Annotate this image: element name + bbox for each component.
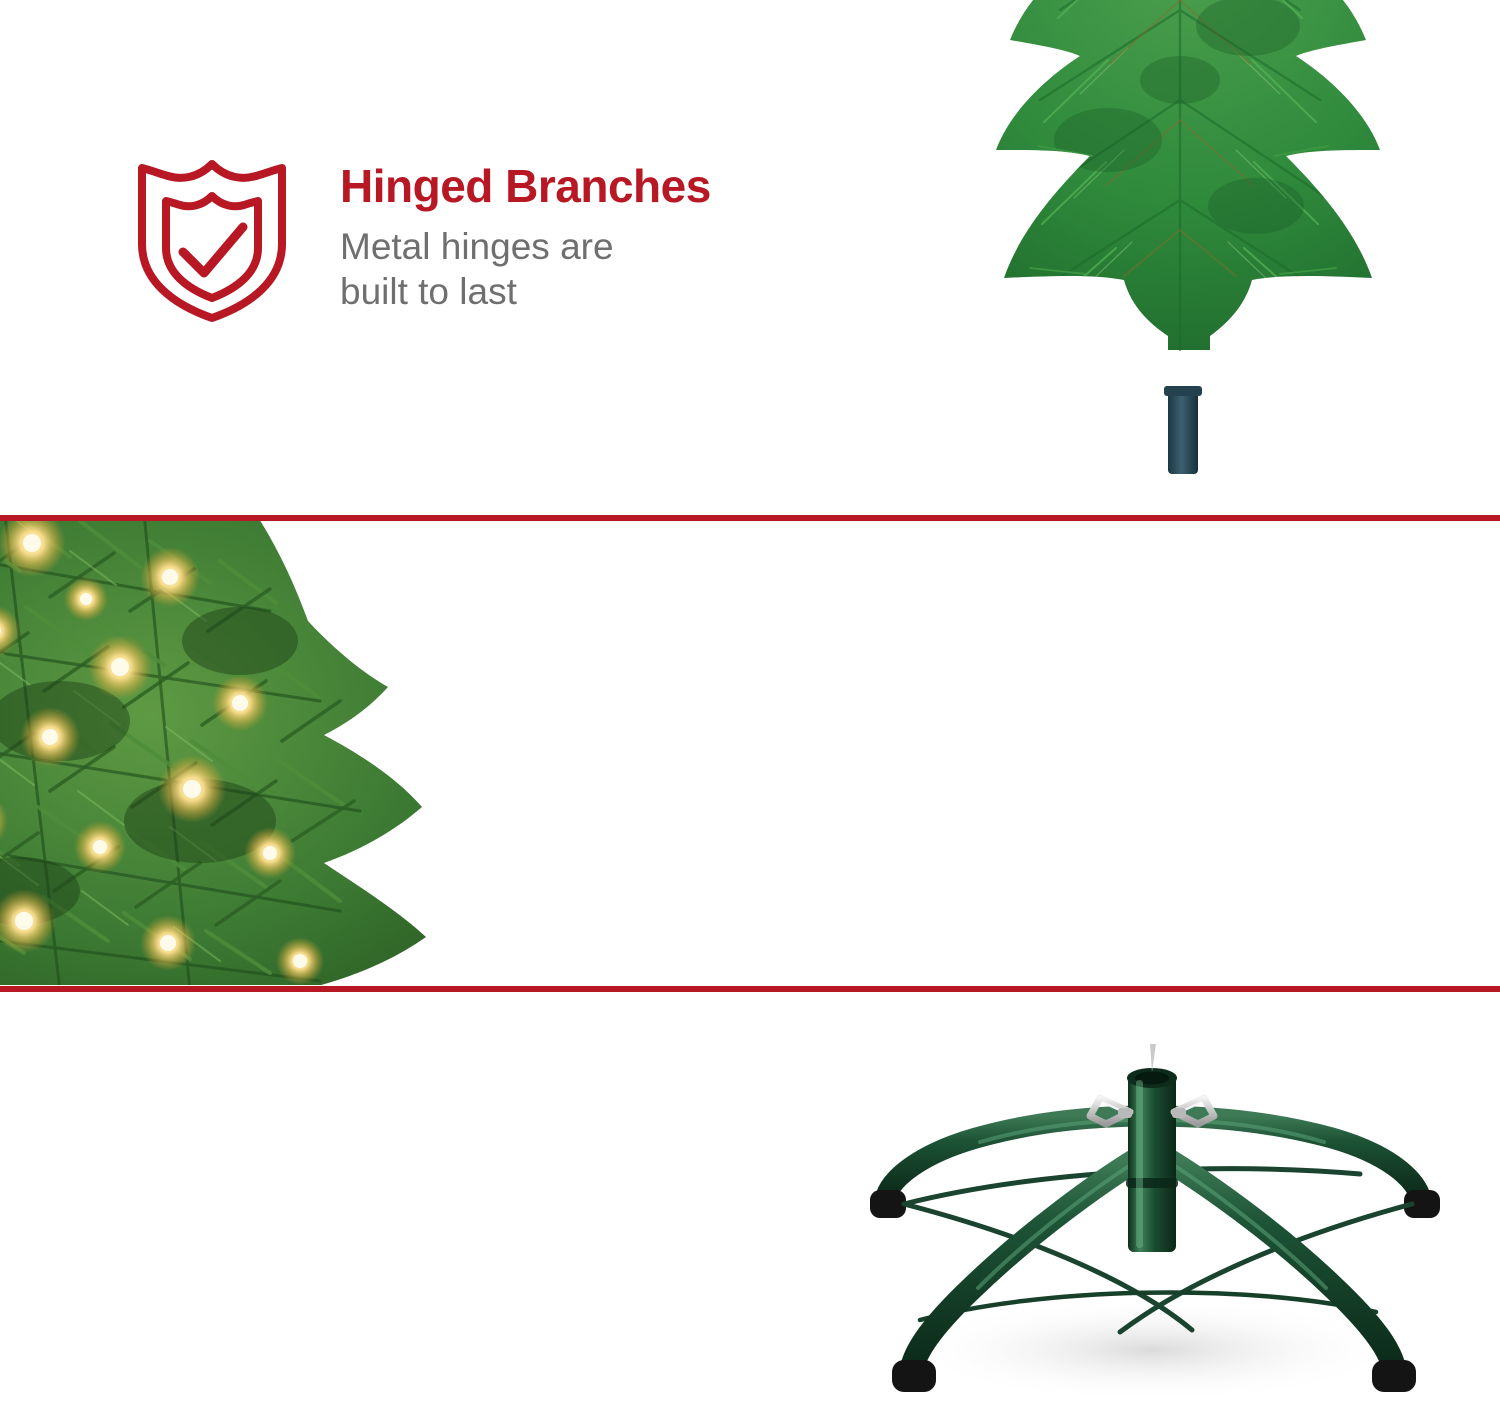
feature-subtitle-line: Metal hinges are bbox=[340, 224, 711, 269]
tree-top-photo bbox=[880, 0, 1500, 510]
shield-check-icon bbox=[128, 152, 296, 324]
feature-subtitle: Metal hinges are built to last bbox=[340, 224, 711, 314]
feature-text-hinged-branches: Hinged Branches Metal hinges are built t… bbox=[340, 162, 711, 315]
feature-hinged-branches: Hinged Branches Metal hinges are built t… bbox=[128, 152, 711, 324]
feature-panel-sturdy-base: Sturdy Base A reliable metal stand for y… bbox=[0, 992, 1500, 1412]
product-feature-infographic: Hinged Branches Metal hinges are built t… bbox=[0, 0, 1500, 1412]
feature-panel-hinged-branches: Hinged Branches Metal hinges are built t… bbox=[0, 0, 1500, 515]
feature-panel-pvc-tips: PVC Tips Flame-retardant and easy to flu… bbox=[0, 521, 1500, 985]
tree-stand-photo bbox=[800, 1020, 1480, 1412]
feature-subtitle-line: built to last bbox=[340, 269, 711, 314]
feature-title: Hinged Branches bbox=[340, 162, 711, 210]
prelit-tree-photo bbox=[0, 521, 560, 985]
